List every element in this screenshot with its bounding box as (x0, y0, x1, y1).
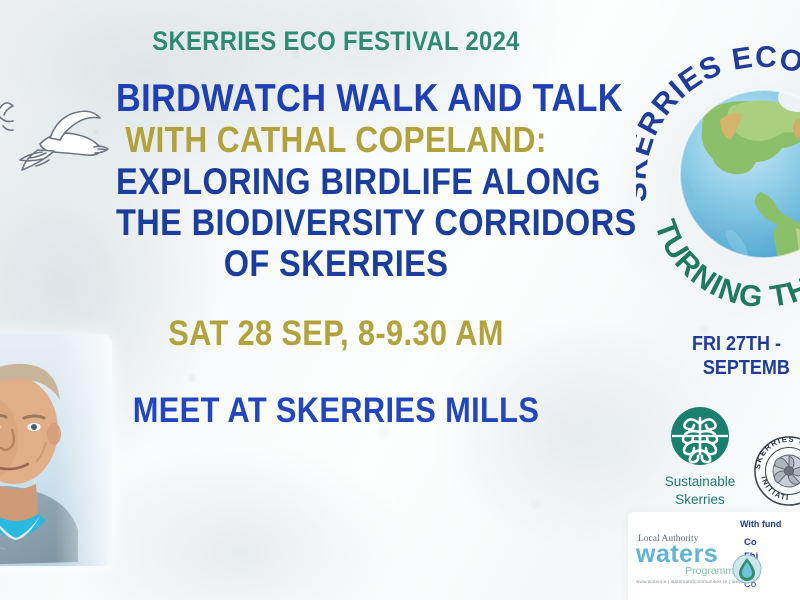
funding-heading: With fund (740, 519, 781, 529)
tree-in-circle-icon (670, 406, 730, 466)
meeting-point: MEET AT SKERRIES MILLS (116, 393, 556, 428)
headline-line-5: OF SKERRIES (116, 245, 556, 282)
water-drop-globe-icon (732, 554, 762, 584)
sustainable-skerries-logo: Sustainable Skerries (648, 406, 752, 507)
headline-line-1: BIRDWATCH WALK AND TALK (116, 79, 556, 118)
festival-title: SKERRIES ECO FESTIVAL 2024 (116, 28, 556, 55)
headline-line-4: THE BIODIVERSITY CORRIDORS (116, 204, 556, 241)
skerries-eco-festival-logo: SKERRIES ECO F TURNING THE TI (636, 24, 800, 324)
event-poster: SKERRIES ECO FESTIVAL 2024 BIRDWATCH WAL… (0, 0, 800, 600)
funding-panel: With fund Co Fhi Fin Co Local Authority … (628, 512, 800, 600)
headline-line-3: EXPLORING BIRDLIFE ALONG (116, 163, 556, 200)
festival-date-line-1: FRI 27TH - (660, 332, 800, 356)
event-date: SAT 28 SEP, 8-9.30 AM (116, 316, 556, 351)
skerries-initiative-badge: SKERRIES C INITIATI (752, 434, 800, 508)
festival-date-line-2: SEPTEMB (660, 356, 800, 380)
headline-line-2: WITH CATHAL COPELAND: (116, 122, 556, 158)
sustainable-skerries-label-line-1: Sustainable (648, 474, 752, 489)
festival-dates-block: FRI 27TH - SEPTEMB (660, 332, 800, 381)
sustainable-skerries-label-line-2: Skerries (648, 492, 752, 507)
waters-programme-logo: Local Authority waters Programme www.wat… (636, 534, 756, 584)
poster-text-column: SKERRIES ECO FESTIVAL 2024 BIRDWATCH WAL… (86, 28, 586, 428)
